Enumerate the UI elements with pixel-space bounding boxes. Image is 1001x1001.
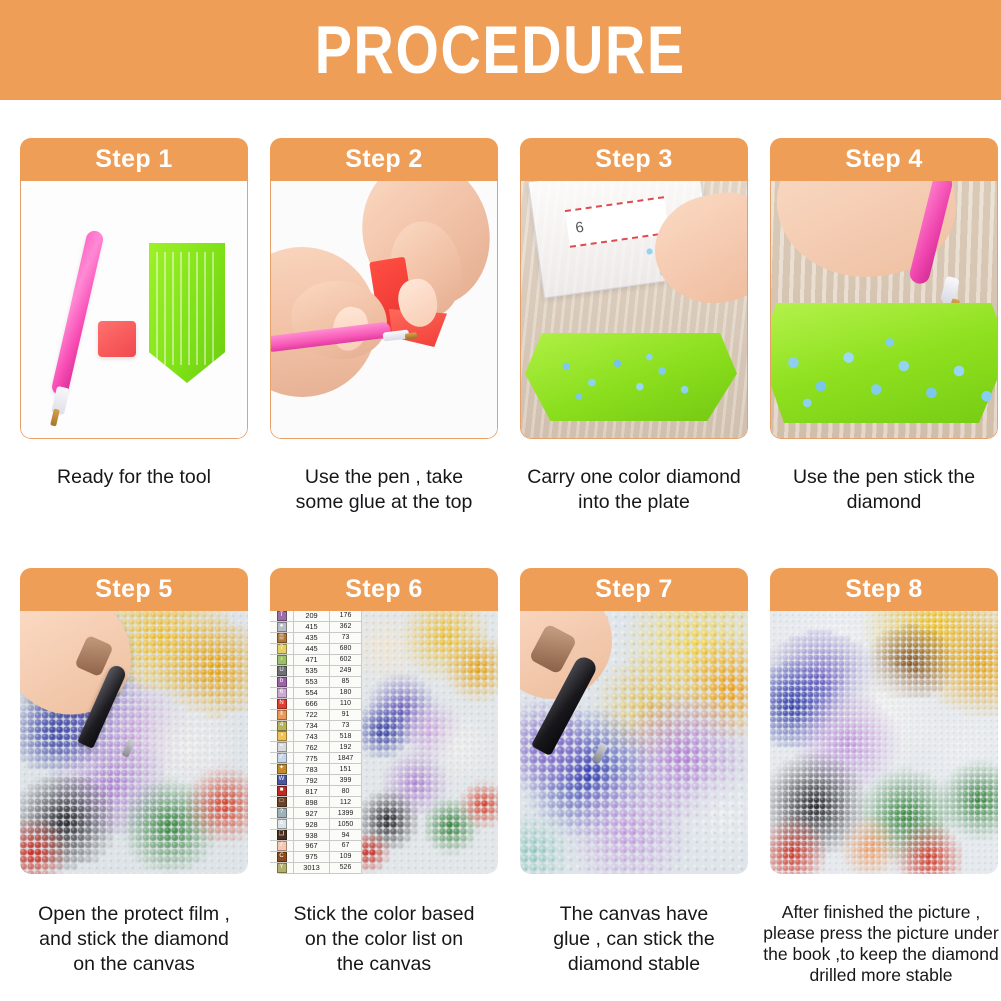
color-chart-row: N666110 — [270, 699, 361, 710]
color-chart-row: ❑93894 — [270, 830, 361, 841]
color-count-cell: 518 — [330, 733, 361, 740]
color-symbol-cell: 4 — [270, 721, 294, 731]
color-symbol-cell: W — [270, 775, 294, 785]
color-swatch-icon: ⁄⁄ — [277, 753, 287, 763]
page-header-banner: PROCEDURE — [0, 0, 1001, 100]
pour-diamonds-illustration: 6 — [521, 181, 747, 438]
color-count-cell: 80 — [330, 788, 361, 795]
color-count-cell: 192 — [330, 744, 361, 751]
step-card-8-image — [770, 611, 998, 874]
color-count-cell: 110 — [330, 700, 361, 707]
green-tray-icon — [149, 243, 225, 383]
step-card-7-frame: Step 7 — [520, 568, 748, 874]
color-code-cell: 775 — [294, 753, 330, 763]
blue-diamonds-icon — [775, 329, 998, 413]
color-code-cell: 734 — [294, 721, 330, 731]
color-count-cell: 176 — [330, 612, 361, 619]
color-symbol-cell: ⫽ — [270, 841, 294, 851]
color-swatch-icon: 6 — [277, 688, 287, 698]
color-code-cell: 415 — [294, 622, 330, 632]
color-swatch-icon: ♪ — [277, 655, 287, 665]
color-swatch-icon: ● — [277, 622, 287, 632]
color-code-cell: 554 — [294, 688, 330, 698]
color-code-cell: 938 — [294, 830, 330, 840]
color-symbol-cell: ‖ — [270, 710, 294, 720]
color-swatch-icon: T — [277, 611, 287, 621]
red-glue-square-icon — [98, 321, 136, 357]
color-count-cell: 180 — [330, 689, 361, 696]
color-count-cell: 1399 — [330, 810, 361, 817]
steps-row-1: Step 1 Ready for the tool Step 2 — [20, 138, 981, 515]
step-caption-5: Open the protect film ,and stick the dia… — [16, 902, 252, 977]
step-caption-6: Stick the color basedon the color list o… — [266, 902, 502, 977]
color-symbol-cell: ▒ — [270, 633, 294, 643]
step-caption-1: Ready for the tool — [16, 465, 252, 490]
color-chart-row: 7445680 — [270, 644, 361, 655]
color-count-cell: 151 — [330, 766, 361, 773]
color-count-cell: 249 — [330, 667, 361, 674]
step-card-3-header: Step 3 — [520, 138, 748, 181]
step-card-1-image — [20, 181, 248, 439]
color-count-cell: 362 — [330, 623, 361, 630]
color-symbol-cell: ● — [270, 622, 294, 632]
color-code-cell: 817 — [294, 786, 330, 796]
color-swatch-icon: □ — [277, 797, 287, 807]
blue-diamonds-icon — [547, 349, 707, 407]
color-count-cell: 399 — [330, 777, 361, 784]
step-card-8-frame: Step 8 — [770, 568, 998, 874]
color-code-cell: 535 — [294, 666, 330, 676]
color-code-cell: 553 — [294, 677, 330, 687]
color-chart-row: 473473 — [270, 721, 361, 732]
color-count-cell: 94 — [330, 832, 361, 839]
color-swatch-icon: ❑ — [277, 830, 287, 840]
color-code-cell: 783 — [294, 764, 330, 774]
color-symbol-cell: N — [270, 699, 294, 709]
color-chart-row: ◑743518 — [270, 731, 361, 742]
tools-illustration — [21, 181, 247, 438]
mosaic-canvas-8 — [770, 611, 998, 874]
color-swatch-icon: ‖ — [277, 710, 287, 720]
color-code-cell: 3013 — [294, 863, 330, 873]
color-count-cell: 602 — [330, 656, 361, 663]
color-count-cell: 73 — [330, 722, 361, 729]
color-swatch-icon: b — [277, 677, 287, 687]
step-card-2-image — [270, 181, 498, 439]
step-card-6: Step 6 T209176●415362▒435737445680♪47160… — [270, 568, 498, 986]
color-chart-row: ●415362 — [270, 622, 361, 633]
step-card-6-image: T209176●415362▒435737445680♪471602U53524… — [270, 611, 498, 874]
step-card-4-frame: Step 4 — [770, 138, 998, 439]
color-chart-row: ⫽96767 — [270, 841, 361, 852]
pink-pen-icon — [50, 229, 104, 397]
color-swatch-icon: Y — [277, 863, 287, 873]
color-code-cell: 975 — [294, 852, 330, 862]
color-chart-row: ‖72291 — [270, 710, 361, 721]
color-symbol-cell: T — [270, 611, 294, 621]
step-card-5-frame: Step 5 — [20, 568, 248, 874]
color-swatch-icon: ■ — [277, 786, 287, 796]
color-list-illustration: T209176●415362▒435737445680♪471602U53524… — [270, 611, 498, 874]
tray-grooves-icon — [156, 252, 218, 365]
step-card-4-header: Step 4 — [770, 138, 998, 181]
page-title: PROCEDURE — [315, 16, 686, 84]
color-chart-row: C975109 — [270, 852, 361, 863]
step-card-3-image: 6 — [520, 181, 748, 439]
step-card-5-header: Step 5 — [20, 568, 248, 611]
color-code-cell: 435 — [294, 633, 330, 643]
step-card-7: Step 7 The canvas haveglue , can stick t… — [520, 568, 748, 986]
color-code-cell: 209 — [294, 611, 330, 621]
color-symbol-cell: ⁄⁄ — [270, 753, 294, 763]
color-count-cell: 680 — [330, 645, 361, 652]
color-swatch-icon: C — [277, 852, 287, 862]
step-card-5: Step 5 Open the protect film ,and stick … — [20, 568, 248, 986]
step-caption-3: Carry one color diamondinto the plate — [516, 465, 752, 515]
color-count-cell: 91 — [330, 711, 361, 718]
color-chart-row: T209176 — [270, 611, 361, 622]
color-symbol-cell: ❑ — [270, 830, 294, 840]
glue-dipping-illustration — [271, 181, 497, 438]
step-card-7-header: Step 7 — [520, 568, 748, 611]
color-chart-table: T209176●415362▒435737445680♪471602U53524… — [270, 611, 362, 874]
color-swatch-icon: ◑ — [277, 731, 287, 741]
color-code-cell: 967 — [294, 841, 330, 851]
color-swatch-icon: ∆ — [277, 819, 287, 829]
color-symbol-cell: ✦ — [270, 764, 294, 774]
color-code-cell: 445 — [294, 644, 330, 654]
color-swatch-icon: N — [277, 699, 287, 709]
color-swatch-icon: 4 — [277, 721, 287, 731]
color-swatch-icon: ▒ — [277, 633, 287, 643]
color-symbol-cell: b — [270, 677, 294, 687]
color-chart-row: =762192 — [270, 742, 361, 753]
color-swatch-icon: ⫽ — [277, 841, 287, 851]
step-card-6-frame: Step 6 T209176●415362▒435737445680♪47160… — [270, 568, 498, 874]
color-code-cell: 743 — [294, 731, 330, 741]
color-chart-row: ♪471602 — [270, 655, 361, 666]
color-chart-row: ▒43573 — [270, 633, 361, 644]
color-swatch-icon: = — [277, 742, 287, 752]
color-count-cell: 112 — [330, 799, 361, 806]
step-card-4: Step 4 Use the pen stick thediamond — [770, 138, 998, 515]
color-chart-row: Y3013526 — [270, 863, 361, 874]
step-card-1-header: Step 1 — [20, 138, 248, 181]
step-card-5-image — [20, 611, 248, 874]
color-code-cell: 792 — [294, 775, 330, 785]
color-swatch-icon: U — [277, 666, 287, 676]
color-symbol-cell: ◑ — [270, 731, 294, 741]
step-card-7-image — [520, 611, 748, 874]
step-card-4-image — [770, 181, 998, 439]
step-caption-2: Use the pen , takesome glue at the top — [266, 465, 502, 515]
color-chart-row: W792399 — [270, 775, 361, 786]
color-chart-row: ?9271399 — [270, 808, 361, 819]
color-count-cell: 73 — [330, 634, 361, 641]
color-count-cell: 1847 — [330, 755, 361, 762]
color-symbol-cell: ∆ — [270, 819, 294, 829]
steps-row-2: Step 5 Open the protect film ,and stick … — [20, 568, 981, 986]
step-card-2-header: Step 2 — [270, 138, 498, 181]
step-card-8: Step 8 After finished the picture ,pleas… — [770, 568, 998, 986]
step-caption-7: The canvas haveglue , can stick thediamo… — [516, 902, 752, 977]
color-code-cell: 762 — [294, 742, 330, 752]
color-code-cell: 666 — [294, 699, 330, 709]
color-chart-row: 6554180 — [270, 688, 361, 699]
color-symbol-cell: ? — [270, 808, 294, 818]
color-chart-row: b55385 — [270, 677, 361, 688]
color-symbol-cell: Y — [270, 863, 294, 873]
color-count-cell: 85 — [330, 678, 361, 685]
color-symbol-cell: C — [270, 852, 294, 862]
color-code-cell: 471 — [294, 655, 330, 665]
color-chart-row: ✦783151 — [270, 764, 361, 775]
color-symbol-cell: ♪ — [270, 655, 294, 665]
color-symbol-cell: ■ — [270, 786, 294, 796]
color-code-cell: 928 — [294, 819, 330, 829]
color-symbol-cell: □ — [270, 797, 294, 807]
pick-diamond-illustration — [771, 181, 997, 438]
color-swatch-icon: 7 — [277, 644, 287, 654]
color-code-cell: 898 — [294, 797, 330, 807]
color-code-cell: 927 — [294, 808, 330, 818]
step-caption-8: After finished the picture ,please press… — [757, 902, 1001, 986]
step-caption-4: Use the pen stick thediamond — [766, 465, 1001, 515]
step-card-1-frame: Step 1 — [20, 138, 248, 439]
color-swatch-icon: W — [277, 775, 287, 785]
color-count-cell: 109 — [330, 853, 361, 860]
color-code-cell: 722 — [294, 710, 330, 720]
color-chart-row: U535249 — [270, 666, 361, 677]
color-chart-row: □898112 — [270, 797, 361, 808]
mosaic-canvas-6 — [362, 611, 498, 874]
color-symbol-cell: 7 — [270, 644, 294, 654]
color-count-cell: 67 — [330, 842, 361, 849]
color-count-cell: 1050 — [330, 821, 361, 828]
step-card-3-frame: Step 3 6 — [520, 138, 748, 439]
step-card-2: Step 2 Use the pen , takesome glue at — [270, 138, 498, 515]
color-swatch-icon: ? — [277, 808, 287, 818]
color-chart-row: ∆9281050 — [270, 819, 361, 830]
color-symbol-cell: = — [270, 742, 294, 752]
step-card-6-header: Step 6 — [270, 568, 498, 611]
step-card-1: Step 1 Ready for the tool — [20, 138, 248, 515]
step-card-3: Step 3 6 Carry one color diamondinto the… — [520, 138, 748, 515]
color-symbol-cell: 6 — [270, 688, 294, 698]
step-card-8-header: Step 8 — [770, 568, 998, 611]
color-swatch-icon: ✦ — [277, 764, 287, 774]
color-chart-row: ■81780 — [270, 786, 361, 797]
color-count-cell: 526 — [330, 864, 361, 871]
color-symbol-cell: U — [270, 666, 294, 676]
step-card-2-frame: Step 2 — [270, 138, 498, 439]
color-chart-row: ⁄⁄7751847 — [270, 753, 361, 764]
